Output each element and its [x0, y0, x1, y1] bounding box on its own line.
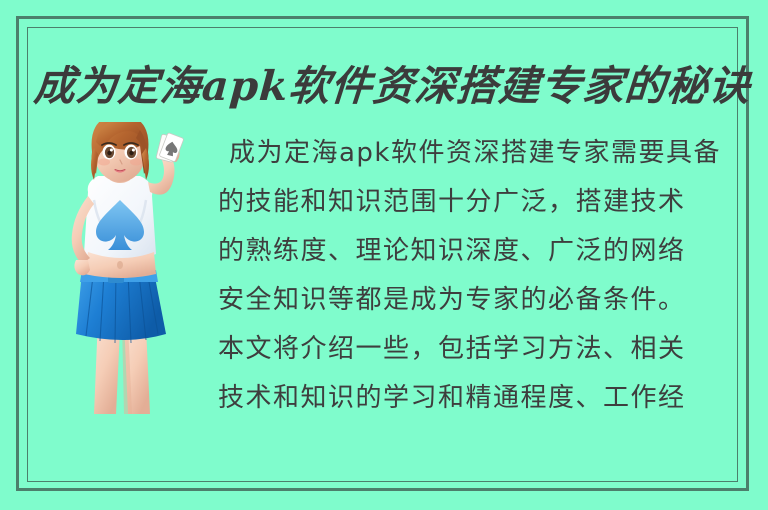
banner-title: 成为定海apk软件资深搭建专家的秘诀: [32, 57, 736, 115]
anime-girl-illustration: [36, 122, 206, 417]
body-line: 的熟练度、理论知识深度、广泛的网络: [218, 227, 730, 276]
body-line: 的技能和知识范围十分广泛，搭建技术: [218, 178, 730, 227]
body-line: 本文将介绍一些，包括学习方法、相关: [218, 325, 730, 374]
body-line: 安全知识等都是成为专家的必备条件。: [218, 276, 730, 325]
promo-banner: 成为定海apk软件资深搭建专家的秘诀: [0, 0, 768, 510]
body-copy: 成为定海apk软件资深搭建专家需要具备 的技能和知识范围十分广泛，搭建技术 的熟…: [218, 129, 730, 423]
body-line: 成为定海apk软件资深搭建专家需要具备: [218, 129, 730, 178]
playing-cards: [156, 131, 184, 163]
body-line: 技术和知识的学习和精通程度、工作经: [218, 374, 730, 423]
